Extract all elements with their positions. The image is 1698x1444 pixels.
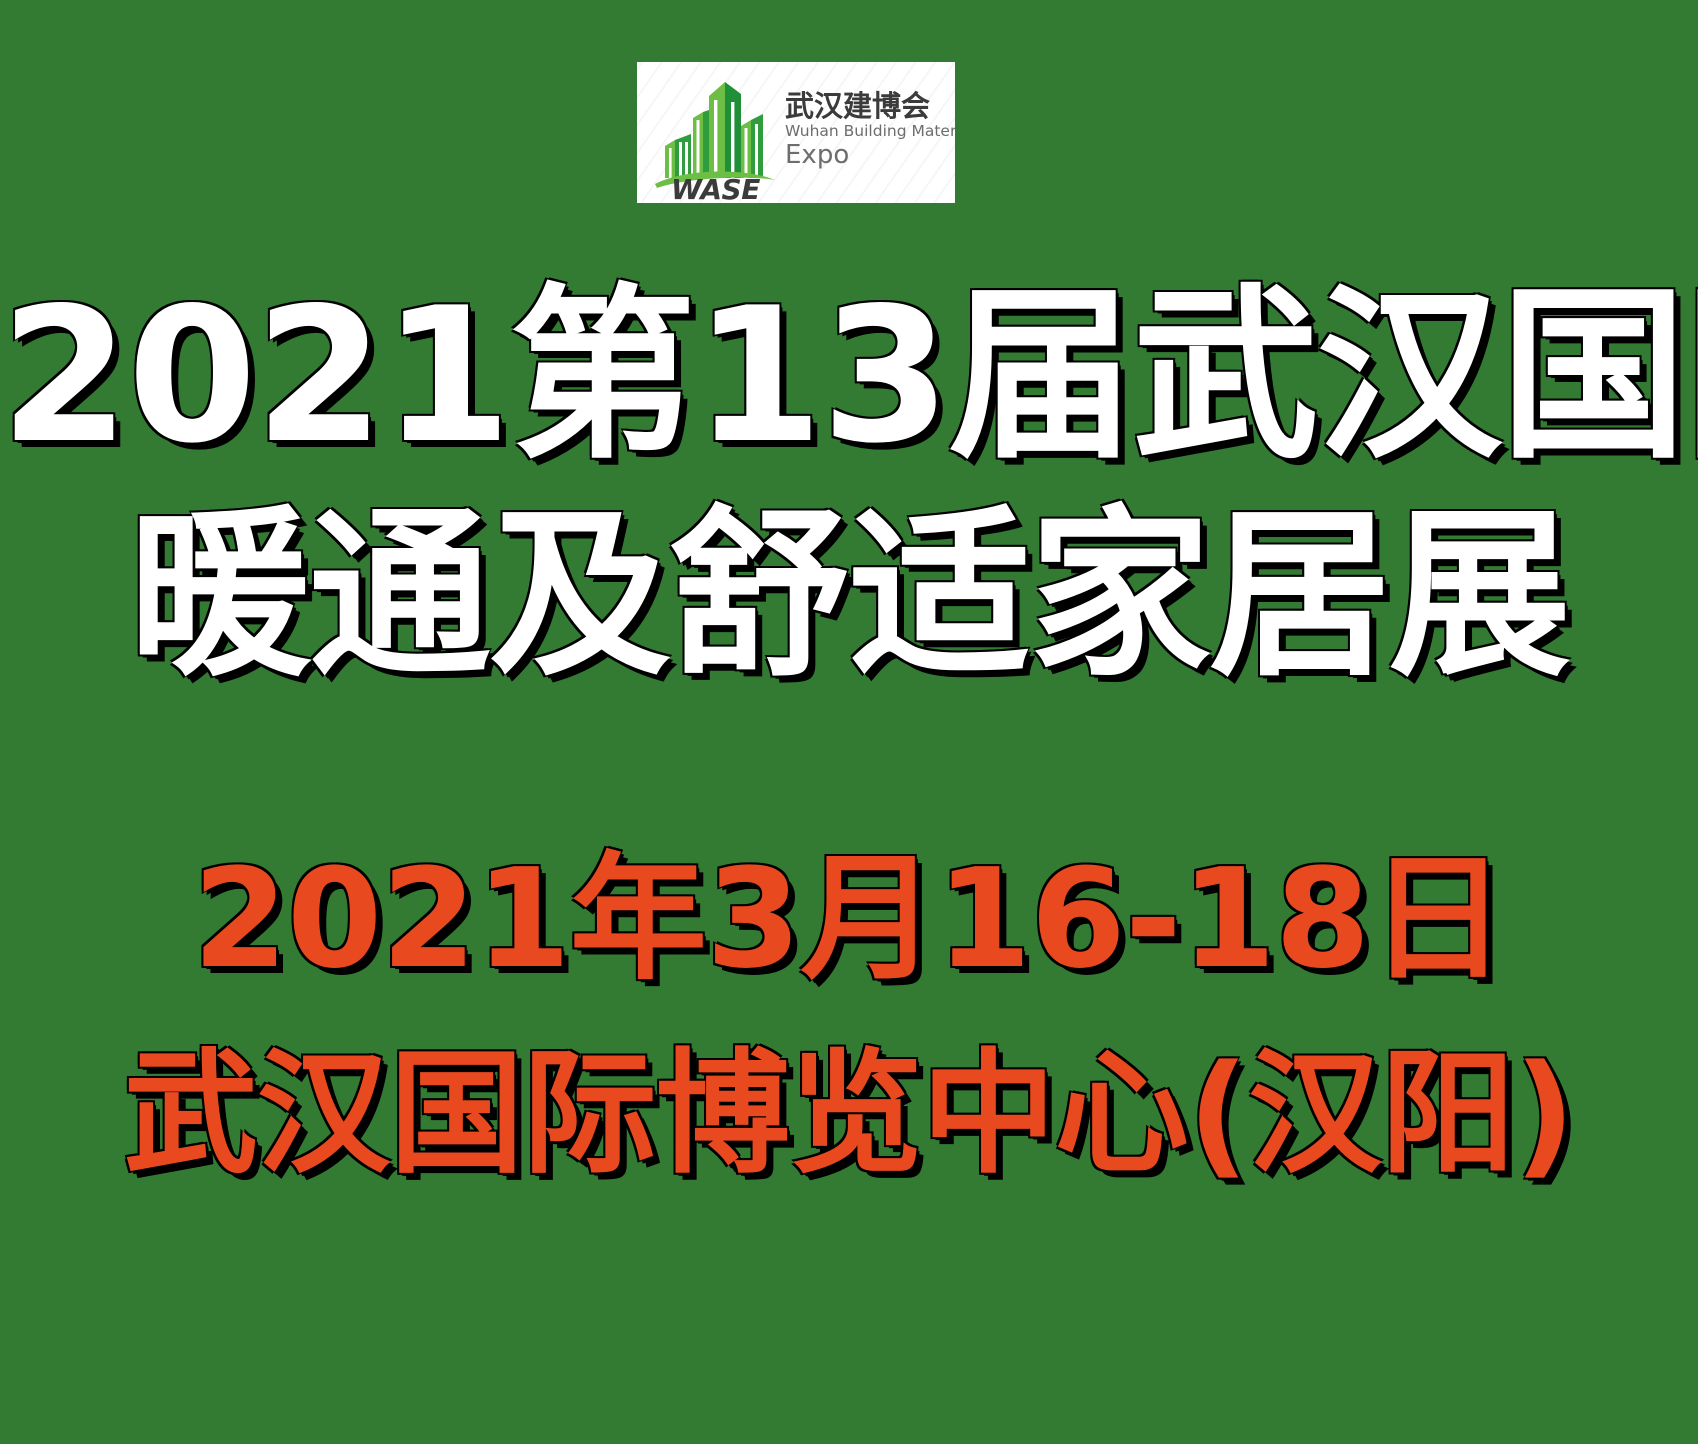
headline-line-2: 暖通及舒适家居展 <box>0 490 1698 701</box>
headline-line-1: 2021第13届武汉国际 <box>0 268 1698 484</box>
wase-building-skyline-icon: WASE <box>651 68 779 200</box>
logo-english-name-line1: Wuhan Building Material <box>785 123 955 141</box>
info-block: 2021年3月16-18日 武汉国际博览中心(汉阳) <box>0 832 1698 1201</box>
logo-text-block: 武汉建博会 Wuhan Building Material Expo <box>785 92 955 168</box>
headline-block: 2021第13届武汉国际 暖通及舒适家居展 <box>0 268 1698 701</box>
event-venue: 武汉国际博览中心(汉阳) <box>0 1029 1698 1201</box>
expo-logo: WASE 武汉建博会 Wuhan Building Material Expo <box>637 62 955 203</box>
logo-english-name-line2: Expo <box>785 142 955 168</box>
event-dates: 2021年3月16-18日 <box>0 832 1698 1007</box>
logo-chinese-name: 武汉建博会 <box>785 92 955 121</box>
poster-canvas: WASE 武汉建博会 Wuhan Building Material Expo … <box>0 0 1698 1444</box>
svg-text:WASE: WASE <box>671 173 760 200</box>
